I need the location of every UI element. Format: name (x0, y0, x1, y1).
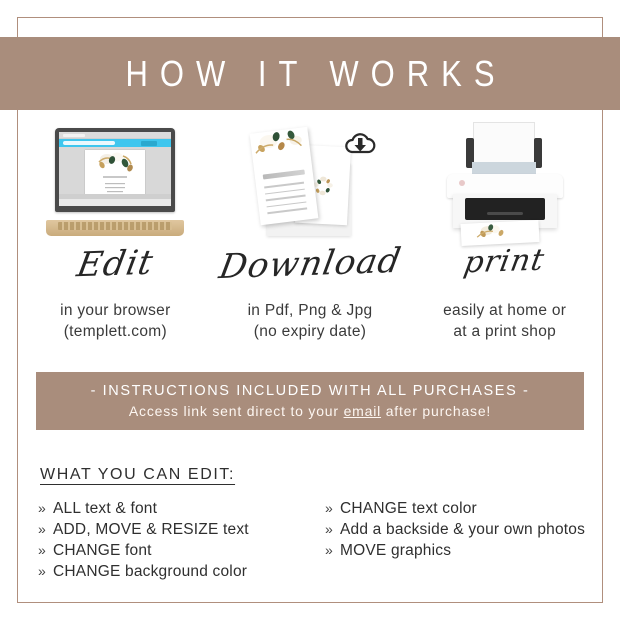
caption-print: easily at home or at a print shop (407, 300, 602, 342)
card-text-lines (264, 182, 308, 219)
instructions-banner: - INSTRUCTIONS INCLUDED WITH ALL PURCHAS… (36, 372, 584, 430)
instructions-sub-after: after purchase! (381, 403, 491, 419)
power-button[interactable] (459, 180, 465, 186)
bullet-icon: » (38, 540, 46, 561)
browser-tabbar (59, 132, 171, 139)
title-banner: HOW IT WORKS (0, 37, 620, 110)
invitation-cards-icon (245, 124, 375, 244)
list-item: »ALL text & font (38, 498, 311, 519)
page-title: HOW IT WORKS (113, 52, 506, 94)
list-item-label: ALL text & font (53, 498, 157, 519)
list-item-label: CHANGE font (53, 540, 152, 561)
edit-list-right: »CHANGE text color »Add a backside & you… (311, 498, 598, 582)
caption-print-line1: easily at home or (407, 300, 602, 321)
caption-print-line2: at a print shop (407, 321, 602, 342)
list-item: »CHANGE font (38, 540, 311, 561)
caption-edit: in your browser (templett.com) (18, 300, 213, 342)
card-front (250, 127, 319, 225)
edit-list: »ALL text & font »ADD, MOVE & RESIZE tex… (38, 498, 598, 582)
step-edit-script-label: Edit (14, 241, 217, 288)
floral-art-icon (250, 127, 312, 174)
caption-download-line2: (no expiry date) (213, 321, 408, 342)
email-link[interactable]: email (344, 403, 381, 419)
list-item: »CHANGE text color (325, 498, 598, 519)
edit-section-heading: WHAT YOU CAN EDIT: (40, 466, 235, 484)
list-item: »CHANGE background color (38, 561, 311, 582)
edit-list-left: »ALL text & font »ADD, MOVE & RESIZE tex… (38, 498, 311, 582)
step-print-script-label: print (404, 241, 606, 283)
list-item-label: Add a backside & your own photos (340, 519, 585, 540)
browser-statusbar (59, 194, 171, 199)
floral-art-icon (85, 150, 145, 196)
printer-output-slot (465, 198, 545, 220)
bullet-icon: » (38, 519, 46, 540)
list-item: »Add a backside & your own photos (325, 519, 598, 540)
laptop-screen (59, 132, 171, 206)
list-item-label: ADD, MOVE & RESIZE text (53, 519, 249, 540)
laptop-icon (46, 128, 184, 236)
floral-print-art-icon (460, 220, 539, 246)
browser-canvas (59, 147, 171, 199)
instructions-sub-before: Access link sent direct to your (129, 403, 344, 419)
browser-toolbar (59, 139, 171, 147)
bullet-icon: » (325, 498, 333, 519)
caption-download-line1: in Pdf, Png & Jpg (213, 300, 408, 321)
list-item-label: CHANGE background color (53, 561, 247, 582)
step-download-script-label: Download (208, 241, 411, 288)
list-item: »MOVE graphics (325, 540, 598, 561)
list-item: »ADD, MOVE & RESIZE text (38, 519, 311, 540)
list-item-label: CHANGE text color (340, 498, 477, 519)
list-item-label: MOVE graphics (340, 540, 451, 561)
instructions-subline: Access link sent direct to your email af… (129, 403, 491, 419)
bullet-icon: » (325, 519, 333, 540)
instructions-headline: - INSTRUCTIONS INCLUDED WITH ALL PURCHAS… (91, 383, 530, 399)
bullet-icon: » (38, 561, 46, 582)
laptop-lid (55, 128, 175, 212)
invitation-preview (85, 150, 145, 196)
bullet-icon: » (38, 498, 46, 519)
promo-graphic: HOW IT WORKS (0, 0, 620, 620)
caption-edit-line2: (templett.com) (18, 321, 213, 342)
cloud-download-icon (343, 130, 377, 158)
bullet-icon: » (325, 540, 333, 561)
caption-download: in Pdf, Png & Jpg (no expiry date) (213, 300, 408, 342)
captions-row: in your browser (templett.com) in Pdf, P… (18, 300, 602, 342)
printer-icon (439, 122, 571, 248)
caption-edit-line1: in your browser (18, 300, 213, 321)
printed-page (460, 220, 539, 246)
laptop-keyboard (58, 222, 172, 230)
laptop-base (46, 220, 184, 236)
